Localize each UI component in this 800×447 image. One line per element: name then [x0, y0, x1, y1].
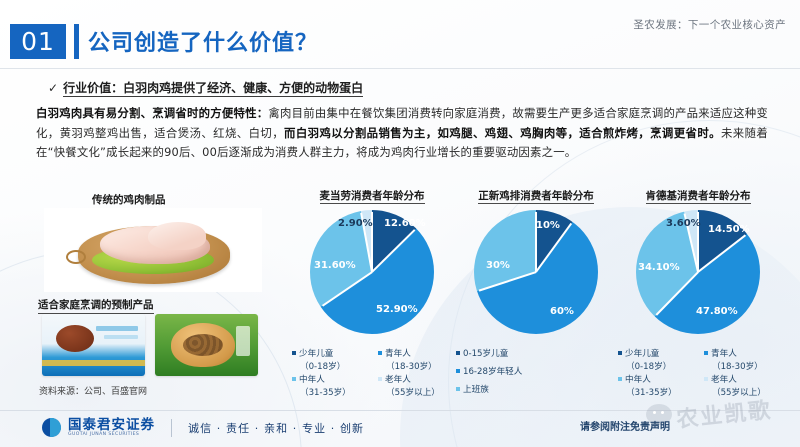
chart-title: 肯德基消费者年龄分布 [614, 188, 782, 203]
photo-whole-chicken [44, 208, 262, 292]
legend-swatch-icon [456, 369, 460, 373]
chart-title: 正新鸡排消费者年龄分布 [452, 188, 620, 203]
pie-label-3: 60% [550, 306, 574, 317]
slide-canvas: 圣农发展：下一个农业核心资产 01 公司创造了什么价值？ ✓行业价值：白羽肉鸡提… [0, 0, 800, 447]
pie-label-4: 47.80% [696, 306, 738, 317]
legend-sub: （0-18岁） [292, 361, 370, 374]
legend-sub: （31-35岁） [292, 387, 370, 400]
package-text-bar-small [104, 335, 138, 339]
paragraph-segment-3: 而白羽鸡以分割品销售为主，如鸡腿、鸡翅、鸡胸肉等，适合煎炸烤，烹调更省时。 [284, 126, 721, 140]
legend-swatch-icon [292, 351, 296, 355]
logo-divider [171, 419, 172, 437]
brand-logo: 国泰君安证券 GUOTAI JUNAN SECURITIES 诚信 · 责任 ·… [42, 418, 364, 437]
pie-chart: 12.60% 2.90% 31.60% 52.90% [310, 210, 434, 334]
chart-zhengxin: 正新鸡排消费者年龄分布 10% 30% 60% 0-15岁儿童 16-28岁年轻… [452, 188, 620, 418]
section-number-rule [74, 24, 79, 59]
legend-item: 青年人 [378, 348, 456, 361]
legend-item: 老年人 [704, 374, 782, 387]
legend-sub: （18-30岁） [704, 361, 782, 374]
legend-swatch-icon [456, 387, 460, 391]
chart-title: 麦当劳消费者年龄分布 [288, 188, 456, 203]
pie-label-2: 2.90% [338, 218, 373, 229]
package-filling-shape [183, 334, 223, 356]
legend-item: 中年人 [618, 374, 696, 387]
header-divider [0, 68, 800, 69]
pie-label-2: 3.60% [666, 218, 701, 229]
pie-chart: 14.50% 3.60% 34.10% 47.80% [636, 210, 760, 334]
legend-item: 少年儿童 [292, 348, 370, 361]
legend-item: 中年人 [292, 374, 370, 387]
chart-legend: 0-15岁儿童 16-28岁年轻人 上班族 [456, 348, 620, 402]
legend-swatch-icon [704, 377, 708, 381]
chart-legend: 少年儿童 （0-18岁） 中年人 （31-35岁） 青年人 （18-30岁） 老… [618, 348, 782, 400]
paragraph-segment-1: 白羽鸡肉具有易分割、烹调省时的方便特性： [36, 106, 268, 120]
photo-package-left [42, 314, 145, 376]
legend-sub: （31-35岁） [618, 387, 696, 400]
disclaimer-note: 请参阅附注免责声明 [580, 418, 670, 433]
package-patty-shape [56, 325, 94, 352]
pie-label-1: 12.60% [384, 218, 426, 229]
legend-item: 少年儿童 [618, 348, 696, 361]
source-note: 资料来源：公司、百盛官网 [39, 384, 147, 397]
legend-item: 青年人 [704, 348, 782, 361]
pie-label-3: 34.10% [638, 262, 680, 273]
legend-item: 老年人 [378, 374, 456, 387]
caption-traditional-products: 传统的鸡肉制品 [92, 192, 166, 209]
legend-item: 16-28岁年轻人 [456, 366, 620, 379]
legend-sub: （18-30岁） [378, 361, 456, 374]
caption-prepared-products: 适合家庭烹调的预制产品 [38, 297, 154, 314]
chart-mcdonalds: 麦当劳消费者年龄分布 12.60% 2.90% 31.60% 52.90% 少年… [288, 188, 456, 418]
legend-swatch-icon [618, 377, 622, 381]
pie-label-2: 30% [486, 260, 510, 271]
pie-chart: 10% 30% 60% [474, 210, 598, 334]
legend-sub: （55岁以上） [378, 387, 456, 400]
package-label-shape [236, 326, 250, 356]
deck-kicker: 圣农发展：下一个农业核心资产 [633, 17, 786, 32]
section-number: 01 [10, 24, 66, 59]
legend-item: 0-15岁儿童 [456, 348, 620, 361]
brand-name-cn: 国泰君安证券 [68, 419, 155, 432]
chart-kfc: 肯德基消费者年龄分布 14.50% 3.60% 34.10% 47.80% 少年… [614, 188, 782, 418]
pie-label-1: 14.50% [708, 224, 750, 235]
page-title: 公司创造了什么价值？ [88, 25, 318, 57]
guotai-junan-logo-icon [42, 418, 61, 437]
legend-swatch-icon [618, 351, 622, 355]
brand-slogan: 诚信 · 责任 · 亲和 · 专业 · 创新 [188, 420, 364, 436]
package-band [42, 360, 145, 366]
section-bullet: ✓行业价值：白羽肉鸡提供了经济、健康、方便的动物蛋白 [48, 79, 363, 96]
pie-label-3: 31.60% [314, 260, 356, 271]
pie-label-4: 52.90% [376, 304, 418, 315]
legend-swatch-icon [378, 377, 382, 381]
body-paragraph: 白羽鸡肉具有易分割、烹调省时的方便特性：禽肉目前由集中在餐饮集团消费转向家庭消费… [36, 104, 768, 163]
legend-swatch-icon [292, 377, 296, 381]
chart-legend: 少年儿童 （0-18岁） 中年人 （31-35岁） 青年人 （18-30岁） 老… [292, 348, 456, 400]
package-text-bar [96, 326, 138, 331]
pie-label-1: 10% [536, 220, 560, 231]
legend-item: 上班族 [456, 384, 620, 397]
section-bullet-text: 行业价值：白羽肉鸡提供了经济、健康、方便的动物蛋白 [63, 81, 363, 97]
legend-swatch-icon [378, 351, 382, 355]
legend-sub: （0-18岁） [618, 361, 696, 374]
chicken-breast-shape [148, 222, 206, 250]
legend-swatch-icon [704, 351, 708, 355]
legend-swatch-icon [456, 351, 460, 355]
checkmark-icon: ✓ [48, 81, 58, 95]
photo-package-right [155, 314, 258, 376]
